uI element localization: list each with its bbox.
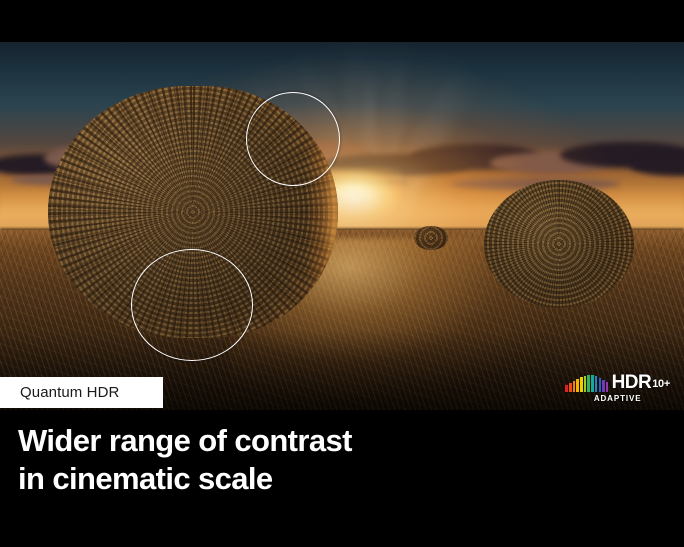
spectrum-bar [591, 375, 594, 392]
hdr-tier-label: ADAPTIVE [594, 395, 642, 403]
hay-bale-right [484, 180, 634, 308]
hay-bale-distant [414, 226, 448, 250]
hdr-version-label: 10+ [652, 379, 670, 392]
hero-photo: HDR 10+ ADAPTIVE [0, 0, 684, 410]
spectrum-bar [580, 377, 583, 392]
hdr-logo-row: HDR 10+ [565, 373, 670, 392]
spectrum-bar [576, 379, 579, 392]
spectrum-bar [584, 376, 587, 392]
hay-texture [484, 180, 634, 308]
footer-panel: Wider range of contrast in cinematic sca… [0, 410, 684, 547]
quantum-hdr-badge-label: Quantum HDR [20, 384, 119, 401]
headline-line-1: Wider range of contrast [18, 422, 352, 460]
hdr-wordmark: HDR [612, 373, 652, 392]
detail-circle-lower [131, 249, 253, 361]
letterbox-top-bar [0, 0, 684, 42]
spectrum-bar [587, 375, 590, 392]
spectrum-bar [602, 380, 605, 392]
spectrum-bar [606, 382, 609, 392]
quantum-hdr-promo-card: HDR 10+ ADAPTIVE Quantum HDR Wider range… [0, 0, 684, 547]
headline-line-2: in cinematic scale [18, 460, 352, 498]
spectrum-bar [595, 376, 598, 392]
spectrum-bar [599, 378, 602, 392]
spectrum-bars-icon [565, 375, 609, 392]
spectrum-bar [569, 383, 572, 392]
quantum-hdr-badge: Quantum HDR [0, 377, 163, 408]
hdr10plus-adaptive-logo: HDR 10+ ADAPTIVE [565, 373, 670, 403]
spectrum-bar [573, 381, 576, 392]
detail-circle-upper [246, 92, 340, 186]
spectrum-bar [565, 385, 568, 392]
hay-texture [414, 226, 448, 250]
headline: Wider range of contrast in cinematic sca… [18, 422, 352, 499]
